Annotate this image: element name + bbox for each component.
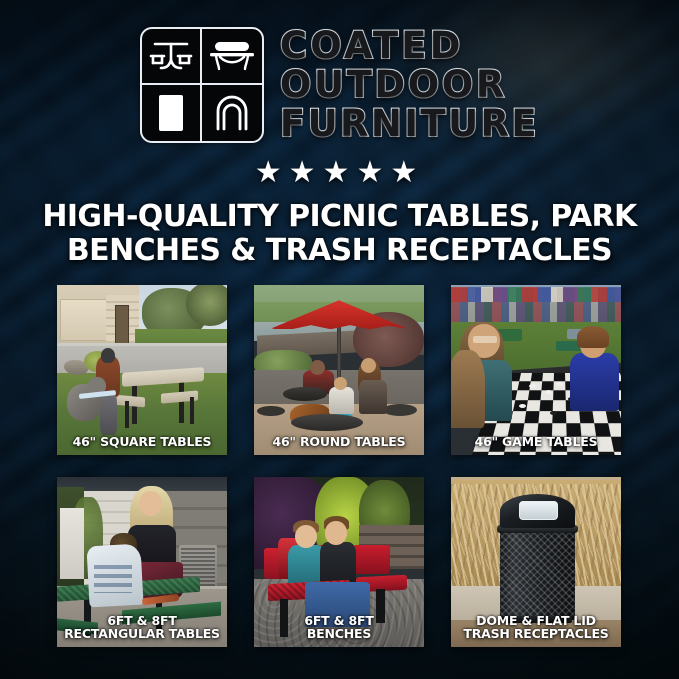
headline-line-1: HIGH-QUALITY PICNIC TABLES, PARK bbox=[24, 200, 655, 234]
logo-line-3: FURNITURE bbox=[280, 104, 539, 143]
bike-rack-icon bbox=[202, 85, 262, 141]
product-caption-game-tables: 46" GAME TABLES bbox=[451, 435, 621, 449]
caption-line-1: 46" GAME TABLES bbox=[454, 435, 618, 449]
caption-line-1: 46" SQUARE TABLES bbox=[60, 435, 224, 449]
product-card-round-tables[interactable]: 46" ROUND TABLES bbox=[254, 285, 424, 455]
brand-logo: COATED OUTDOOR FURNITURE bbox=[0, 26, 679, 144]
product-caption-benches: 6FT & 8FT BENCHES bbox=[254, 614, 424, 642]
logo-line-1: COATED bbox=[280, 26, 464, 65]
bench-table-icon bbox=[202, 29, 262, 85]
product-caption-trash-receptacles: DOME & FLAT LID TRASH RECEPTACLES bbox=[451, 614, 621, 642]
product-caption-rectangular-tables: 6FT & 8FT RECTANGULAR TABLES bbox=[57, 614, 227, 642]
star-icon-2: ★ bbox=[289, 158, 323, 188]
product-photo-round-tables bbox=[254, 285, 424, 455]
product-photo-game-tables bbox=[451, 285, 621, 455]
square-picnic-table-icon bbox=[142, 29, 202, 85]
star-icon-4: ★ bbox=[356, 158, 390, 188]
star-icon-3: ★ bbox=[323, 158, 357, 188]
product-card-benches[interactable]: 6FT & 8FT BENCHES bbox=[254, 477, 424, 647]
caption-line-2: BENCHES bbox=[257, 627, 421, 641]
product-photo-square-tables bbox=[57, 285, 227, 455]
banner-content: COATED OUTDOOR FURNITURE ★★★★★ HIGH-QUAL… bbox=[0, 0, 679, 679]
headline: HIGH-QUALITY PICNIC TABLES, PARK BENCHES… bbox=[0, 200, 679, 267]
logo-icon-grid bbox=[140, 27, 264, 143]
product-caption-round-tables: 46" ROUND TABLES bbox=[254, 435, 424, 449]
product-card-rectangular-tables[interactable]: 6FT & 8FT RECTANGULAR TABLES bbox=[57, 477, 227, 647]
product-grid: 46" SQUARE TABLES bbox=[57, 285, 622, 647]
trash-receptacle-icon bbox=[142, 85, 202, 141]
headline-line-2: BENCHES & TRASH RECEPTACLES bbox=[24, 234, 655, 268]
product-card-square-tables[interactable]: 46" SQUARE TABLES bbox=[57, 285, 227, 455]
product-caption-square-tables: 46" SQUARE TABLES bbox=[57, 435, 227, 449]
product-card-trash-receptacles[interactable]: DOME & FLAT LID TRASH RECEPTACLES bbox=[451, 477, 621, 647]
product-banner: COATED OUTDOOR FURNITURE ★★★★★ HIGH-QUAL… bbox=[0, 0, 679, 679]
caption-line-2: TRASH RECEPTACLES bbox=[454, 627, 618, 641]
product-card-game-tables[interactable]: 46" GAME TABLES bbox=[451, 285, 621, 455]
logo-wordmark: COATED OUTDOOR FURNITURE bbox=[280, 26, 539, 144]
caption-line-2: RECTANGULAR TABLES bbox=[60, 627, 224, 641]
caption-line-1: 46" ROUND TABLES bbox=[257, 435, 421, 449]
logo-line-2: OUTDOOR bbox=[280, 65, 507, 104]
star-rating: ★★★★★ bbox=[0, 158, 679, 188]
star-icon-5: ★ bbox=[390, 158, 424, 188]
star-icon-1: ★ bbox=[255, 158, 289, 188]
